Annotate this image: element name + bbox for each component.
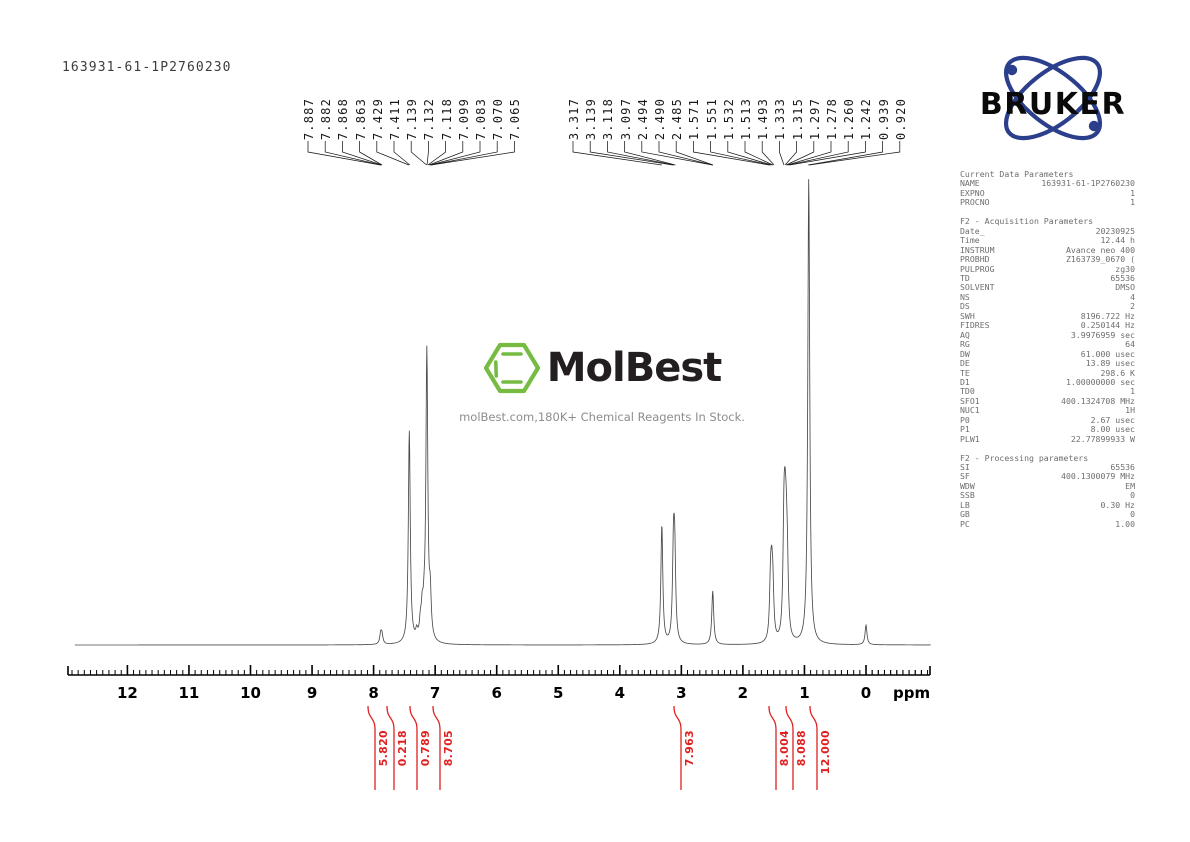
peak-label-leader-line <box>790 141 866 165</box>
peak-shift-label: 7.070 <box>492 98 504 140</box>
parameter-value: 163931-61-1P2760230 <box>1041 179 1135 188</box>
parameter-row: LB0.30 Hz <box>960 501 1135 510</box>
peak-shift-label: 1.333 <box>774 98 786 140</box>
peak-shift-label: 7.429 <box>372 98 384 140</box>
hexagon-logo-icon <box>483 342 541 394</box>
peak-label-leader-line <box>342 141 381 165</box>
peak-label-leader-line <box>786 141 814 165</box>
peak-shift-label: 1.493 <box>757 98 769 140</box>
bruker-wordmark: BRUKER <box>980 87 1126 122</box>
param-section-acquisition: Date_20230925Time12.44 hINSTRUMAvance ne… <box>960 227 1135 444</box>
peak-label-leader-line <box>788 141 848 165</box>
parameter-key: PLW1 <box>960 435 980 444</box>
axis-tick-label: 12 <box>117 684 138 702</box>
parameter-row: PULPROGzg30 <box>960 265 1135 274</box>
peak-shift-label: 0.939 <box>878 98 890 140</box>
peak-label-leader-line <box>394 141 410 165</box>
parameter-row: SFO1400.1324708 MHz <box>960 397 1135 406</box>
parameter-row: SOLVENTDMSO <box>960 283 1135 292</box>
peak-shift-label: 2.490 <box>654 98 666 140</box>
molbest-wordmark: MolBest <box>547 348 722 388</box>
axis-tick-label: 6 <box>491 684 501 702</box>
molbest-tagline: molBest.com,180K+ Chemical Reagents In S… <box>452 410 752 424</box>
peak-label-leader-line <box>431 141 514 165</box>
peak-shift-label: 1.315 <box>792 98 804 140</box>
axis-tick-label: 8 <box>368 684 378 702</box>
integral-bracket <box>410 706 417 790</box>
peak-shift-label: 7.411 <box>389 98 401 140</box>
peak-label-leader-line <box>411 141 426 165</box>
peak-shift-label: 2.485 <box>671 98 683 140</box>
peak-label-leader-line <box>676 141 713 165</box>
axis-tick-label: 10 <box>240 684 261 702</box>
peak-label-leader-line <box>785 141 797 165</box>
peak-shift-label: 1.571 <box>688 98 700 140</box>
bruker-logo: BRUKER <box>963 48 1143 148</box>
acquisition-parameters-panel: Current Data Parameters NAME163931-61-1P… <box>960 170 1135 529</box>
axis-tick-label: 11 <box>179 684 200 702</box>
parameter-row: PC1.00 <box>960 520 1135 529</box>
peak-label-leader-line <box>308 141 381 165</box>
peak-shift-label: 0.920 <box>895 98 907 140</box>
peak-label-leader-line <box>642 141 713 165</box>
peak-label-leader-line <box>430 141 480 165</box>
peak-shift-label: 1.532 <box>723 98 735 140</box>
peak-label-leader-line <box>431 141 497 165</box>
integral-value: 0.789 <box>419 730 432 766</box>
integral-value: 5.820 <box>377 730 390 766</box>
peak-label-leader-line <box>693 141 769 165</box>
peak-shift-label: 1.278 <box>826 98 838 140</box>
axis-tick-label: 0 <box>861 684 871 702</box>
parameter-value: 1 <box>1130 198 1135 207</box>
parameter-value: 400.1300079 MHz <box>1061 472 1135 481</box>
integral-value: 7.963 <box>683 730 696 766</box>
peak-shift-label: 7.882 <box>320 98 332 140</box>
peak-shift-label: 7.887 <box>303 98 315 140</box>
integral-bracket <box>769 706 776 790</box>
axis-tick-label: 7 <box>430 684 440 702</box>
peak-shift-label: 7.868 <box>337 98 349 140</box>
peak-label-leader-line <box>377 141 409 165</box>
peak-label-leader-line <box>779 141 784 165</box>
peak-shift-label: 7.863 <box>355 98 367 140</box>
parameter-row: PLW122.77899933 W <box>960 435 1135 444</box>
integral-value: 8.088 <box>795 730 808 766</box>
param-section-title-processing: F2 - Processing parameters <box>960 454 1135 463</box>
axis-tick-label: 3 <box>676 684 686 702</box>
parameter-row: AQ3.9976959 sec <box>960 331 1135 340</box>
peak-shift-label: 7.132 <box>423 98 435 140</box>
parameter-value: 400.1324708 MHz <box>1061 397 1135 406</box>
integral-bracket <box>674 706 681 790</box>
axis-tick-label: 2 <box>738 684 748 702</box>
peak-shift-label: 1.260 <box>843 98 855 140</box>
peak-shift-label: 1.513 <box>740 98 752 140</box>
parameter-row: GB0 <box>960 510 1135 519</box>
peak-shift-label: 3.118 <box>602 98 614 140</box>
integral-bracket <box>368 706 375 790</box>
peak-shift-label: 3.097 <box>620 98 632 140</box>
peak-shift-label: 1.297 <box>809 98 821 140</box>
parameter-key: PROCNO <box>960 198 990 207</box>
param-section-current-data: NAME163931-61-1P2760230EXPNO1PROCNO1 <box>960 179 1135 207</box>
parameter-row: SF400.1300079 MHz <box>960 472 1135 481</box>
peak-label-leader-line <box>429 141 463 165</box>
peak-shift-label: 7.083 <box>475 98 487 140</box>
parameter-row: NS4 <box>960 293 1135 302</box>
integral-bracket <box>810 706 817 790</box>
integral-value: 0.218 <box>396 730 409 766</box>
ppm-axis-unit-label: ppm <box>893 684 930 702</box>
axis-tick-label: 5 <box>553 684 563 702</box>
peak-label-leader-line <box>762 141 774 165</box>
integral-value: 12.000 <box>819 730 832 774</box>
peak-label-leader-line <box>590 141 673 165</box>
axis-tick-label: 1 <box>799 684 809 702</box>
integral-bracket <box>433 706 440 790</box>
sample-title: 163931-61-1P2760230 <box>62 60 232 75</box>
peak-label-leader-line <box>573 141 662 165</box>
peak-label-leader-line <box>427 141 428 165</box>
integral-value: 8.004 <box>778 730 791 766</box>
peak-label-leader-line <box>625 141 676 165</box>
peak-shift-label: 7.099 <box>458 98 470 140</box>
peak-label-leader-line <box>711 141 771 165</box>
peak-label-leader-line <box>745 141 773 165</box>
peak-label-leader-line <box>809 141 899 165</box>
peak-shift-label: 3.139 <box>585 98 597 140</box>
axis-tick-label: 9 <box>307 684 317 702</box>
parameter-row: WDWEM <box>960 482 1135 491</box>
peak-shift-label: 1.551 <box>706 98 718 140</box>
parameter-row: NAME163931-61-1P2760230 <box>960 179 1135 188</box>
peak-label-leader-line <box>325 141 381 165</box>
peak-shift-label: 7.118 <box>441 98 453 140</box>
axis-tick-label: 4 <box>615 684 625 702</box>
peak-shift-label: 7.065 <box>509 98 521 140</box>
peak-label-leader-line <box>607 141 674 165</box>
parameter-key: PC <box>960 520 970 529</box>
peak-label-leader-line <box>659 141 713 165</box>
param-section-processing: SI65536SF400.1300079 MHzWDWEMSSB0LB0.30 … <box>960 463 1135 529</box>
peak-shift-label: 3.317 <box>568 98 580 140</box>
peak-label-leader-line <box>728 141 772 165</box>
peak-label-leader-line <box>428 141 446 165</box>
integral-value: 8.705 <box>442 730 455 766</box>
peak-label-leader-line <box>808 141 882 165</box>
parameter-value: 22.77899933 W <box>1071 435 1135 444</box>
peak-label-leader-line <box>787 141 831 165</box>
peak-shift-label: 1.242 <box>860 98 872 140</box>
parameter-row: D11.00000000 sec <box>960 378 1135 387</box>
parameter-row: PROCNO1 <box>960 198 1135 207</box>
peak-label-leader-line <box>360 141 382 165</box>
parameter-value: 1.00 <box>1115 520 1135 529</box>
peak-shift-label: 2.494 <box>637 98 649 140</box>
molbest-watermark: MolBest molBest.com,180K+ Chemical Reage… <box>452 342 752 424</box>
parameter-value: 1.00000000 sec <box>1066 378 1135 387</box>
peak-shift-label: 7.139 <box>406 98 418 140</box>
